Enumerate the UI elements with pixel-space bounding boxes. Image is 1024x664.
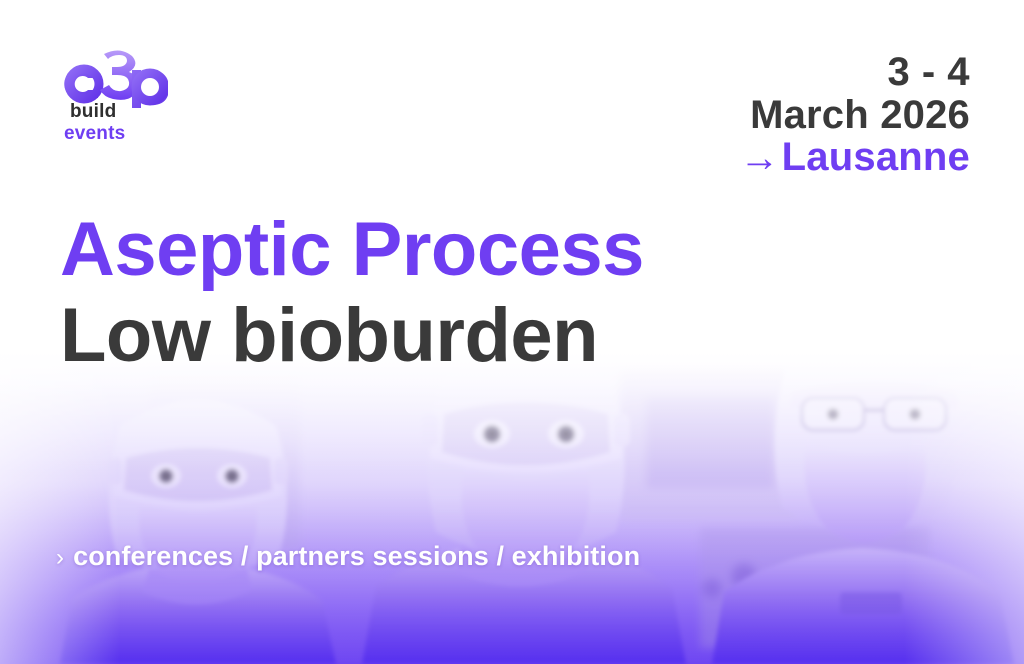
logo-events-text: events <box>64 124 125 143</box>
event-date-location: 3 - 4 March 2026 → Lausanne <box>739 52 970 179</box>
event-city: → Lausanne <box>739 136 970 179</box>
logo-build-text: build <box>70 102 116 121</box>
event-city-label: Lausanne <box>782 136 970 179</box>
event-month-year: March 2026 <box>739 94 970 136</box>
event-title-line2: Low bioburden <box>60 298 644 374</box>
cleanroom-photo-illustration <box>0 330 1024 664</box>
event-title-line1: Aseptic Process <box>60 212 644 288</box>
event-days: 3 - 4 <box>739 52 970 94</box>
event-formats-text: conferences / partners sessions / exhibi… <box>73 541 640 572</box>
event-promo-banner: build events 3 - 4 March 2026 → Lausanne… <box>0 0 1024 664</box>
cleanroom-photo <box>0 330 1024 664</box>
event-formats-tagline: › conferences / partners sessions / exhi… <box>56 541 640 572</box>
a3p-logo-icon <box>58 46 168 108</box>
chevron-right-icon: › <box>56 544 64 572</box>
arrow-right-icon: → <box>739 138 779 178</box>
event-title: Aseptic Process Low bioburden <box>60 212 644 374</box>
a3p-build-events-logo[interactable]: build events <box>58 46 178 146</box>
